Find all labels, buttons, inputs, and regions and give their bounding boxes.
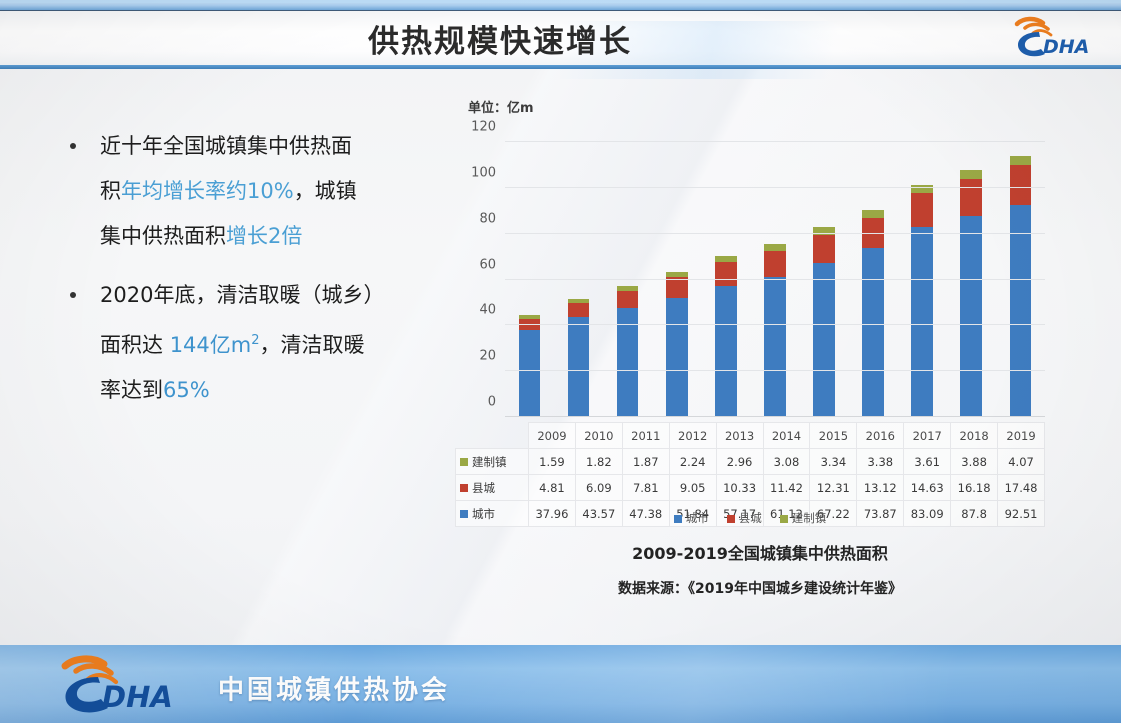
table-cell: 1.87: [622, 449, 669, 475]
table-cell: 3.38: [857, 449, 904, 475]
table-cell: 3.34: [810, 449, 857, 475]
chart-bar-segment: [813, 263, 835, 417]
chart-y-axis-tick: 80: [479, 211, 496, 226]
bullet-1-text-a: 近十年全国城镇集中供热面: [100, 134, 352, 158]
chart-caption: 2009-2019全国城镇集中供热面积: [455, 540, 1065, 564]
table-header-year: 2014: [763, 423, 810, 449]
cdha-logo-header: DHA: [1009, 14, 1105, 60]
bullet-2-text-b: 面积达: [100, 333, 170, 357]
chart-bar-segment: [911, 193, 933, 227]
table-header-year: 2010: [575, 423, 622, 449]
chart-bar-segment: [1010, 165, 1032, 205]
legend-item: 城市: [674, 510, 709, 526]
table-cell: 3.61: [904, 449, 951, 475]
legend-color-swatch: [727, 515, 735, 523]
table-cell: 10.33: [716, 475, 763, 501]
table-header-year: 2009: [529, 423, 576, 449]
table-header-year: 2011: [622, 423, 669, 449]
chart-bar-column: [617, 142, 639, 417]
table-header-year: 2012: [669, 423, 716, 449]
chart-bar-segment: [568, 317, 590, 417]
slide: 供热规模快速增长 DHA 近十年全国城镇集中供热面 积年均增长率约10%，城镇 …: [0, 0, 1121, 723]
chart-unit-base: 单位：亿m: [468, 101, 534, 116]
bullet-2-text-a: 2020年底，清洁取暖（城乡）: [100, 283, 384, 307]
series-color-swatch: [460, 458, 468, 466]
table-cell: 9.05: [669, 475, 716, 501]
chart-unit-label: 单位：亿m: [468, 97, 534, 116]
chart-y-axis-tick: 20: [479, 349, 496, 364]
series-color-swatch: [460, 484, 468, 492]
table-cell: 11.42: [763, 475, 810, 501]
chart-bar-segment: [960, 179, 982, 216]
chart-y-axis-tick: 120: [471, 120, 496, 135]
bullet-2-text-c: ，清洁取暖: [260, 333, 365, 357]
chart-legend: 城市县城建制镇: [455, 510, 1045, 526]
chart-gridline: [505, 416, 1045, 417]
chart-plot-area: 020406080100120: [505, 142, 1045, 417]
bullet-item-2: 2020年底，清洁取暖（城乡） 面积达 144亿m2，清洁取暖 率达到65%: [58, 273, 438, 413]
legend-label: 建制镇: [792, 511, 827, 525]
chart-bars: [505, 142, 1045, 417]
table-cell: 6.09: [575, 475, 622, 501]
bullet-2-text-d: 率达到: [100, 378, 163, 402]
chart-bar-segment: [715, 256, 737, 263]
bullet-1-highlight-a: 年均增长率约10%: [121, 179, 294, 203]
chart-y-axis-tick: 60: [479, 257, 496, 272]
table-row: 建制镇1.591.821.872.242.963.083.343.383.613…: [456, 449, 1045, 475]
chart-bar-segment: [715, 262, 737, 286]
top-accent-strip: [0, 0, 1121, 10]
bullet-dot-icon: [70, 143, 76, 149]
bullet-1-text-b: 积: [100, 179, 121, 203]
chart-bar-segment: [1010, 156, 1032, 165]
table-header-year: 2016: [857, 423, 904, 449]
chart-bar-segment: [666, 298, 688, 417]
table-cell: 2.96: [716, 449, 763, 475]
chart-y-axis-tick: 40: [479, 303, 496, 318]
table-cell: 4.07: [998, 449, 1045, 475]
chart-y-axis-tick: 100: [471, 165, 496, 180]
table-header-year: 2018: [951, 423, 998, 449]
title-underline: [0, 65, 1121, 69]
chart-bar-segment: [764, 251, 786, 277]
table-cell: 13.12: [857, 475, 904, 501]
legend-item: 建制镇: [780, 510, 827, 526]
bullet-item-1: 近十年全国城镇集中供热面 积年均增长率约10%，城镇 集中供热面积增长2倍: [58, 124, 438, 259]
bullet-2-highlight-sup: 2: [251, 333, 259, 348]
chart-bar-segment: [960, 170, 982, 179]
bullet-2-highlight-base: 144亿m: [170, 333, 252, 357]
legend-color-swatch: [674, 515, 682, 523]
chart-bar-segment: [519, 330, 541, 417]
chart-bar-column: [960, 142, 982, 417]
bullet-1-highlight-b: 增长2倍: [226, 224, 302, 248]
chart-bar-column: [862, 142, 884, 417]
bullet-2-highlight-a: 144亿m2: [170, 333, 260, 357]
chart-bar-segment: [1010, 205, 1032, 417]
chart-bar-column: [911, 142, 933, 417]
table-corner-cell: [456, 423, 529, 449]
table-cell: 1.59: [529, 449, 576, 475]
table-cell: 3.08: [763, 449, 810, 475]
legend-label: 县城: [739, 511, 762, 525]
bullet-2-highlight-b: 65%: [163, 378, 210, 402]
chart-bar-column: [568, 142, 590, 417]
chart-y-axis-tick: 0: [488, 395, 496, 410]
chart-bar-column: [1010, 142, 1032, 417]
table-cell: 2.24: [669, 449, 716, 475]
footer-org-name: 中国城镇供热协会: [218, 670, 450, 707]
legend-item: 县城: [727, 510, 762, 526]
table-row: 县城4.816.097.819.0510.3311.4212.3113.1214…: [456, 475, 1045, 501]
chart-gridline: [505, 141, 1045, 142]
chart-container: 单位：亿m 020406080100120 200920102011201220…: [455, 92, 1065, 562]
table-header-year: 2015: [810, 423, 857, 449]
chart-bar-segment: [862, 248, 884, 417]
table-cell: 7.81: [622, 475, 669, 501]
chart-bar-column: [813, 142, 835, 417]
legend-color-swatch: [780, 515, 788, 523]
top-accent-highlight: [0, 0, 1121, 3]
chart-bar-segment: [960, 216, 982, 417]
chart-bar-segment: [715, 286, 737, 417]
bullet-1-text-d: 集中供热面积: [100, 224, 226, 248]
table-row-label: 县城: [456, 475, 529, 501]
chart-bar-column: [666, 142, 688, 417]
chart-bar-segment: [862, 210, 884, 218]
chart-source-note: 数据来源：《2019年中国城乡建设统计年鉴》: [455, 578, 1065, 598]
chart-bar-segment: [764, 244, 786, 251]
table-cell: 16.18: [951, 475, 998, 501]
chart-bar-column: [519, 142, 541, 417]
chart-gridline: [505, 187, 1045, 188]
table-header-year: 2013: [716, 423, 763, 449]
table-cell: 17.48: [998, 475, 1045, 501]
table-header-year: 2017: [904, 423, 951, 449]
chart-bar-segment: [813, 235, 835, 263]
table-cell: 3.88: [951, 449, 998, 475]
table-row-label: 建制镇: [456, 449, 529, 475]
chart-bar-column: [764, 142, 786, 417]
logo-text-header: DHA: [1043, 36, 1089, 58]
chart-bar-segment: [568, 303, 590, 317]
bullet-1-text-c: ，城镇: [294, 179, 357, 203]
chart-gridline: [505, 279, 1045, 280]
cdha-logo-footer: DHA: [52, 652, 200, 714]
page-title: 供热规模快速增长: [0, 16, 1000, 61]
chart-bar-segment: [666, 277, 688, 298]
table-cell: 4.81: [529, 475, 576, 501]
chart-bar-segment: [617, 291, 639, 309]
chart-gridline: [505, 233, 1045, 234]
chart-gridline: [505, 370, 1045, 371]
chart-bar-segment: [764, 277, 786, 417]
table-cell: 14.63: [904, 475, 951, 501]
legend-label: 城市: [686, 511, 709, 525]
table-cell: 1.82: [575, 449, 622, 475]
chart-bar-segment: [911, 227, 933, 417]
bullet-dot-icon: [70, 292, 76, 298]
logo-text-footer: DHA: [102, 680, 173, 714]
bullet-list: 近十年全国城镇集中供热面 积年均增长率约10%，城镇 集中供热面积增长2倍 20…: [58, 124, 438, 427]
table-header-year: 2019: [998, 423, 1045, 449]
chart-bar-column: [715, 142, 737, 417]
chart-gridline: [505, 324, 1045, 325]
table-cell: 12.31: [810, 475, 857, 501]
